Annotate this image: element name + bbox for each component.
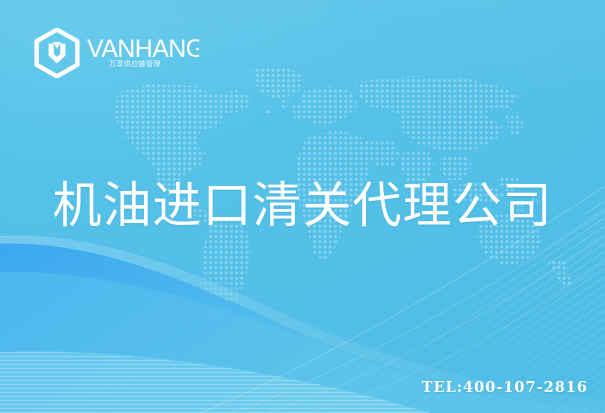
logo-wordmark-text: VANHANG <box>87 35 199 63</box>
telephone-label: TEL:400-107-2816 <box>422 379 588 396</box>
page-title: 机油进口清关代理公司 <box>0 176 605 236</box>
logo-wordmark: VANHANG 万享供应链管理 <box>87 33 199 73</box>
brand-logo: VANHANG 万享供应链管理 <box>34 28 199 78</box>
promo-banner: VANHANG 万享供应链管理 机油进口清关代理公司 TEL:400-107-2… <box>0 0 605 413</box>
vanhang-hexagon-logo-icon <box>34 28 80 78</box>
logo-sub-wordmark-text: 万享供应链管理 <box>109 59 161 68</box>
